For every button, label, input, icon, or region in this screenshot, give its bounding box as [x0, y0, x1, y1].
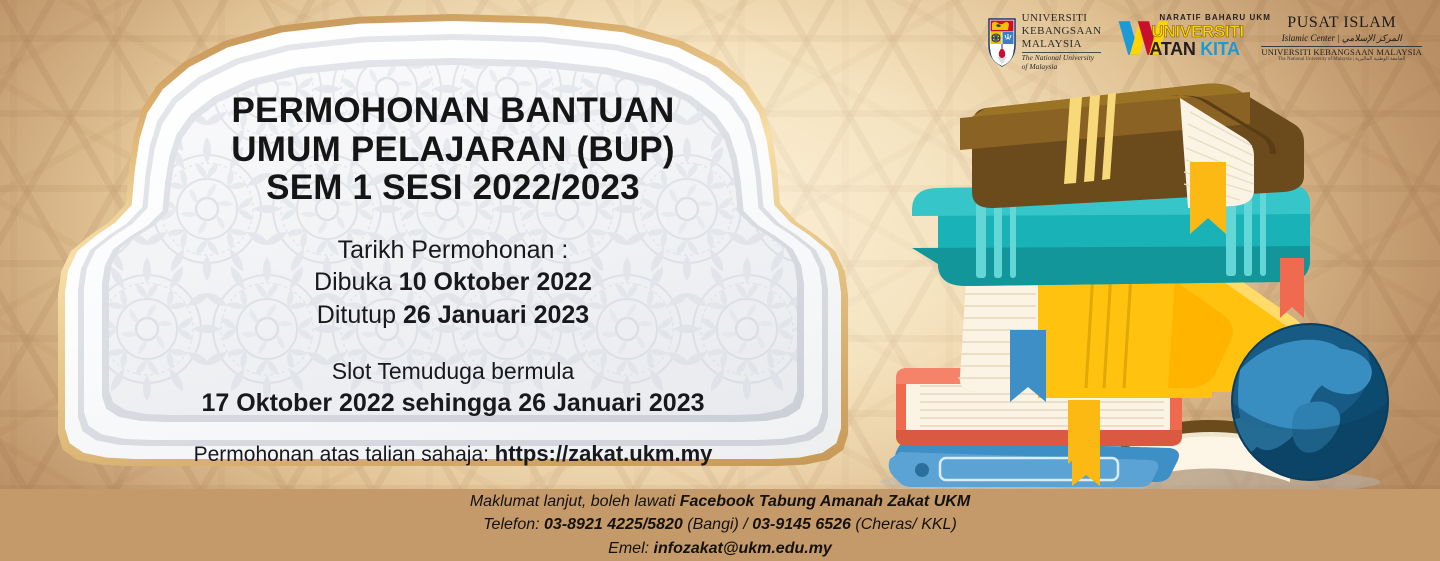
ukm-line-3: MALAYSIA: [1022, 38, 1102, 51]
apply-prefix: Permohonan atas talian sahaja:: [194, 443, 495, 466]
close-date-row: Ditutup 26 Januari 2023: [314, 299, 592, 332]
close-prefix: Ditutup: [317, 301, 403, 329]
open-prefix: Dibuka: [314, 268, 399, 296]
apply-online: Permohonan atas talian sahaja: https://z…: [194, 441, 713, 467]
footer-phone-label: Telefon:: [483, 516, 544, 533]
open-date: 10 Oktober 2022: [399, 268, 592, 296]
footer-email-label: Emel:: [608, 540, 653, 557]
headline-line-3: SEM 1 SESI 2022/2023: [266, 169, 640, 208]
headline-line-1: PERMOHONAN BANTUAN: [231, 92, 674, 131]
footer-phone-cheras: 03-9145 6526: [752, 516, 851, 533]
footer-line-2: Telefon: 03-8921 4225/5820 (Bangi) / 03-…: [483, 513, 957, 536]
footer-line-1: Maklumat lanjut, boleh lawati Facebook T…: [470, 490, 970, 513]
close-date: 26 Januari 2023: [403, 301, 589, 329]
ukm-line-2: KEBANGSAAN: [1022, 25, 1102, 38]
ukm-wordmark: UNIVERSITI KEBANGSAAN MALAYSIA The Natio…: [1022, 12, 1102, 71]
interview-slot: Slot Temuduga bermula 17 Oktober 2022 se…: [201, 357, 704, 419]
open-date-row: Dibuka 10 Oktober 2022: [314, 266, 592, 299]
watan-tagline: NARATIF BAHARU UKM: [1159, 13, 1271, 22]
logo-row: UNIVERSITI KEBANGSAAN MALAYSIA The Natio…: [987, 12, 1422, 71]
pusat-title: PUSAT ISLAM: [1261, 15, 1422, 32]
ukm-logo: UNIVERSITI KEBANGSAAN MALAYSIA The Natio…: [987, 12, 1102, 71]
interview-label: Slot Temuduga bermula: [201, 357, 704, 387]
ukm-crest-icon: [987, 17, 1017, 67]
footer-phone-mid-2: (Cheras/ KKL): [851, 516, 957, 533]
application-dates: Tarikh Permohonan : Dibuka 10 Oktober 20…: [314, 234, 592, 332]
footer-phone-mid-1: (Bangi) /: [683, 516, 752, 533]
footer-line-3: Emel: infozakat@ukm.edu.my: [608, 537, 832, 560]
footer-email-address[interactable]: infozakat@ukm.edu.my: [654, 540, 832, 557]
footer-facebook-prefix: Maklumat lanjut, boleh lawati: [470, 493, 680, 510]
apply-url-link[interactable]: https://zakat.ukm.my: [495, 441, 713, 466]
pusat-subtitle: Islamic Center | المركز الإسلامي: [1261, 33, 1422, 44]
interview-range: 17 Oktober 2022 sehingga 26 Januari 2023: [201, 387, 704, 420]
ukm-line-1: UNIVERSITI: [1022, 12, 1102, 25]
watan-word-atan: ATAN: [1149, 39, 1200, 59]
contact-footer-bar: Maklumat lanjut, boleh lawati Facebook T…: [0, 489, 1440, 561]
zakat-ukm-banner: PERMOHONAN BANTUAN UMUM PELAJARAN (BUP) …: [0, 0, 1440, 561]
ukm-tagline-2: of Malaysia: [1022, 63, 1102, 71]
watan-kita-wordmark: ATAN KITA: [1149, 40, 1239, 58]
pusat-org-sub: The National University of Malaysia | ال…: [1261, 57, 1422, 63]
watan-kita-logo: NARATIF BAHARU UKM UNIVERSITI ATAN KITA: [1117, 12, 1245, 60]
banner-content: PERMOHONAN BANTUAN UMUM PELAJARAN (BUP) …: [58, 14, 848, 466]
dates-label: Tarikh Permohonan :: [314, 234, 592, 267]
footer-phone-bangi: 03-8921 4225/5820: [544, 516, 683, 533]
watan-universiti: UNIVERSITI: [1151, 23, 1243, 40]
pusat-islam-logo: PUSAT ISLAM Islamic Center | المركز الإس…: [1261, 12, 1422, 63]
footer-facebook-page: Facebook Tabung Amanah Zakat UKM: [680, 493, 970, 510]
book-stack-illustration: [880, 70, 1440, 495]
watan-word-kita: KITA: [1200, 39, 1239, 59]
headline-line-2: UMUM PELAJARAN (BUP): [231, 131, 674, 170]
pusat-org: UNIVERSITI KEBANGSAAN MALAYSIA: [1261, 48, 1422, 58]
